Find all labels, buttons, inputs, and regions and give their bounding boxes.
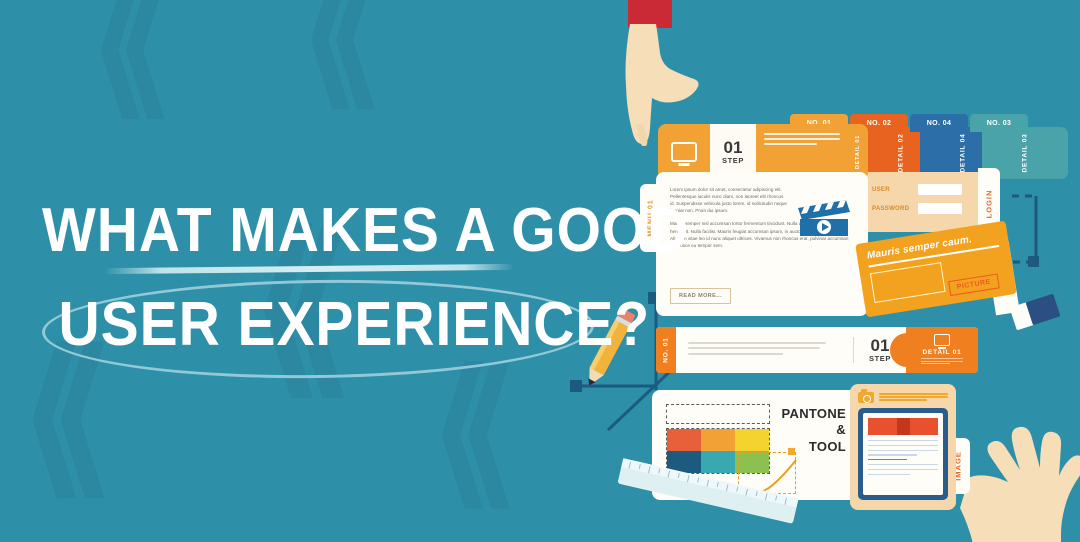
ticket-image-placeholder xyxy=(870,262,946,303)
step-label: STEP xyxy=(722,156,744,165)
lower-step-bar: NO. 01 01 STEP DETAIL 01 xyxy=(656,327,978,373)
detail-panel-04-label: DETAIL 04 xyxy=(960,133,967,172)
password-label: PASSWORD xyxy=(872,206,918,212)
login-tab-label: LOGIN xyxy=(985,190,994,219)
tab-no-03[interactable]: NO. 03 xyxy=(970,114,1028,132)
lower-bar-detail-panel[interactable]: DETAIL 01 xyxy=(906,327,978,373)
watermark-chevron: ⟪ xyxy=(430,350,509,510)
swatch-3[interactable] xyxy=(735,429,769,451)
hero-banner xyxy=(868,418,938,435)
lower-bar-no-tab[interactable]: NO. 01 xyxy=(656,327,676,373)
tablet-screen xyxy=(863,413,943,495)
infographic-illustration: NO. 01 NO. 02 NO. 04 NO. 03 DETAIL 02 DE… xyxy=(560,0,1080,542)
image-card-header-lines xyxy=(879,393,948,402)
detail-panel-02-label: DETAIL 02 xyxy=(898,133,905,172)
login-panel: USER PASSWORD xyxy=(860,172,988,232)
tablet-mockup xyxy=(858,408,948,500)
drag-handle-top[interactable] xyxy=(788,448,795,455)
lower-bar-no-label: NO. 01 xyxy=(663,337,670,362)
password-input[interactable] xyxy=(918,203,962,214)
monitor-icon xyxy=(934,334,950,346)
watermark-chevron: ⟪ xyxy=(90,0,163,120)
poster-canvas: ⟪ ⟪ ⟪ ⟪ ⟪ WHAT MAKES A GOOD USER EXPERIE… xyxy=(0,0,1080,542)
lower-bar-detail-lines xyxy=(921,358,963,366)
headline-line-1: WHAT MAKES A GOOD xyxy=(42,196,557,266)
clapperboard-play-icon[interactable] xyxy=(796,198,852,238)
login-password-row: PASSWORD xyxy=(872,203,962,214)
login-user-row: USER xyxy=(872,184,962,195)
picture-button[interactable]: PICTURE xyxy=(948,273,1000,296)
pantone-title-line-1: PANTONE xyxy=(782,406,846,422)
tab-no-04[interactable]: NO. 04 xyxy=(910,114,968,132)
step-number: 01 xyxy=(724,139,743,156)
watermark-chevron: ⟪ xyxy=(300,0,373,110)
user-input[interactable] xyxy=(918,184,962,195)
read-more-button[interactable]: READ MORE... xyxy=(670,288,731,304)
headline-block: WHAT MAKES A GOOD USER EXPERIENCE? xyxy=(42,196,602,360)
user-label: USER xyxy=(872,187,918,193)
swatch-2[interactable] xyxy=(701,429,735,451)
swatch-5[interactable] xyxy=(701,451,735,473)
headline-line-2: USER EXPERIENCE? xyxy=(42,290,557,360)
lower-bar-detail-label: DETAIL 01 xyxy=(922,349,961,356)
image-card-header xyxy=(858,392,948,403)
swatch-1[interactable] xyxy=(667,429,701,451)
image-card xyxy=(850,384,956,510)
empty-dashed-box xyxy=(666,404,770,424)
lower-bar-copy xyxy=(676,342,853,359)
highlight-line xyxy=(868,459,907,460)
pantone-title-line-2: & xyxy=(782,422,846,438)
detail-panel-03-label: DETAIL 03 xyxy=(1022,133,1029,172)
camera-icon xyxy=(858,392,874,403)
step-card-detail-label: DETAIL 01 xyxy=(855,135,861,169)
